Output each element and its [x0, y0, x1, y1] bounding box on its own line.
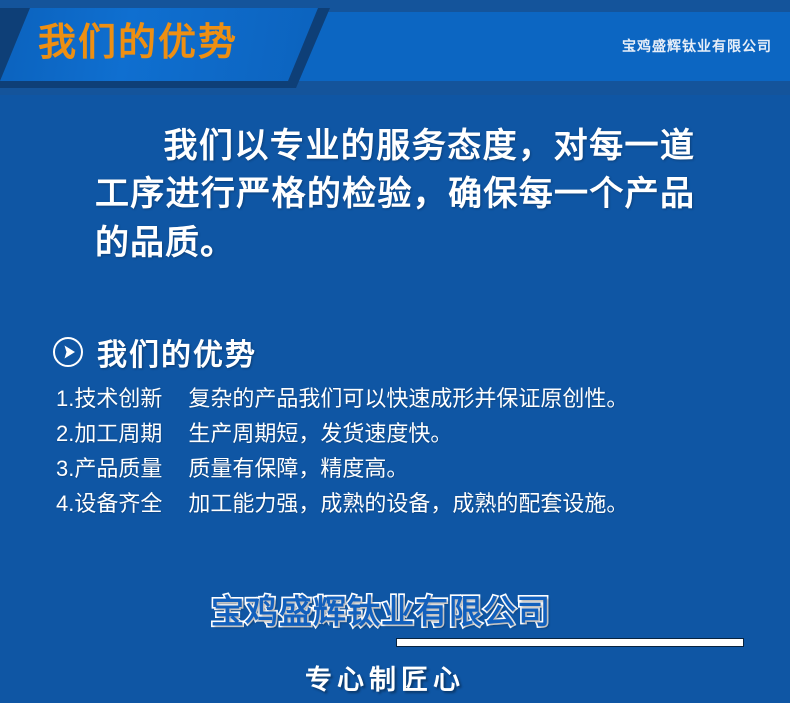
list-item-description: 生产周期短，发货速度快。 [188, 423, 452, 445]
page-header: 我们的优势 宝鸡盛辉钛业有限公司 [0, 0, 790, 95]
list-item: 4. 设备齐全 加工能力强，成熟的设备，成熟的配套设施。 [56, 493, 766, 515]
list-item-label: 加工周期 [74, 423, 162, 445]
list-item-description: 复杂的产品我们可以快速成形并保证原创性。 [188, 388, 628, 410]
list-item-number: 1. [56, 388, 74, 410]
list-item-description: 质量有保障，精度高。 [188, 458, 408, 480]
list-item-label: 产品质量 [74, 458, 162, 480]
list-item-label: 设备齐全 [74, 493, 162, 515]
list-item-number: 3. [56, 458, 74, 480]
list-item: 2. 加工周期 生产周期短，发货速度快。 [56, 423, 766, 445]
section-heading-label: 我们的优势 [97, 330, 257, 374]
advantages-list: 1. 技术创新 复杂的产品我们可以快速成形并保证原创性。 2. 加工周期 生产周… [56, 388, 766, 528]
list-item: 1. 技术创新 复杂的产品我们可以快速成形并保证原创性。 [56, 388, 766, 410]
statement-text: 我们以专业的服务态度，对每一道工序进行严格的检验，确保每一个产品的品质。 [95, 127, 695, 262]
list-item-label: 技术创新 [74, 388, 162, 410]
section-heading: 我们的优势 [52, 330, 257, 374]
list-item-number: 2. [56, 423, 74, 445]
footer-slogan: 专心制匠心 [0, 658, 770, 697]
footer-divider [396, 638, 744, 647]
main-statement: 我们以专业的服务态度，对每一道工序进行严格的检验，确保每一个产品的品质。 [95, 122, 695, 267]
play-circle-icon [52, 336, 84, 368]
footer-company-name: 宝鸡盛辉钛业有限公司 [0, 585, 762, 633]
list-item: 3. 产品质量 质量有保障，精度高。 [56, 458, 766, 480]
header-banner-title: 我们的优势 [38, 24, 238, 62]
advantages-poster: 我们的优势 宝鸡盛辉钛业有限公司 我们以专业的服务态度，对每一道工序进行严格的检… [0, 0, 790, 703]
list-item-number: 4. [56, 493, 74, 515]
list-item-description: 加工能力强，成熟的设备，成熟的配套设施。 [188, 493, 628, 515]
header-company-name: 宝鸡盛辉钛业有限公司 [622, 36, 772, 56]
